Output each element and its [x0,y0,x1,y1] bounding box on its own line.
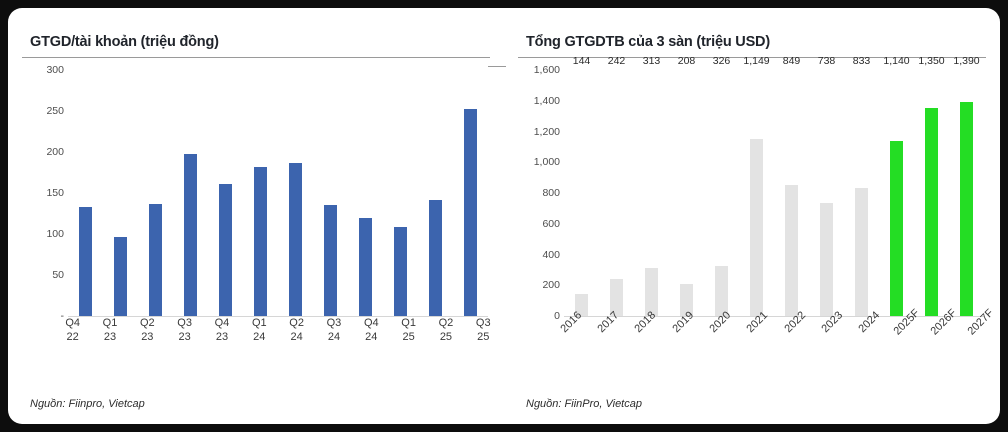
bar-slot [348,70,383,316]
x-axis-tick: Q323 [166,316,203,344]
title-divider-stub [488,66,506,67]
bar [184,154,197,316]
y-axis-tick-label: 1,200 [534,126,560,138]
bar-value-label: 1,390 [953,55,979,67]
title-divider-left [22,57,490,58]
x-axis-labels-left: Q422Q123Q223Q323Q423Q124Q224Q324Q424Q125… [54,316,502,344]
bar-slot: 242 [599,70,634,316]
x-axis-tick: Q422 [54,316,91,344]
x-axis-tick-label: 24 [241,330,278,344]
y-axis-labels-right: 1,6001,4001,2001,0008006004002000 [518,70,564,316]
source-note-right: Nguồn: FiinPro, Vietcap [526,398,642,410]
bar-value-label: 326 [713,55,731,67]
bar-value-label: 208 [678,55,696,67]
bar-value-label: 242 [608,55,626,67]
bar-value-label: 833 [853,55,871,67]
bar: 849 [785,185,798,316]
bar [219,184,232,316]
panel-gtgd-per-account: GTGD/tài khoản (triệu đồng) 300250200150… [8,8,504,424]
bar-slot [313,70,348,316]
y-axis-labels-left: 30025020015010050- [22,70,68,316]
x-axis-tick-label: 22 [54,330,91,344]
x-axis-tick-label: Q1 [241,316,278,330]
plot-area-right: 1,6001,4001,2001,0008006004002000 144242… [518,70,986,316]
bar-value-label: 738 [818,55,836,67]
x-axis-tick-label: Q3 [166,316,203,330]
x-axis-tick: Q325 [465,316,502,344]
bar-slot: 738 [809,70,844,316]
x-axis-tick-label: 23 [91,330,128,344]
x-axis-tick-label: 23 [129,330,166,344]
x-axis-tick: 2019 [662,316,699,356]
x-axis-tick-label: Q1 [91,316,128,330]
x-axis-tick: 2022 [774,316,811,356]
bar [254,167,267,316]
x-axis-tick-label: 23 [203,330,240,344]
x-axis-tick: Q123 [91,316,128,344]
bar-slot: 833 [844,70,879,316]
panel-title-right: Tổng GTGDTB của 3 sàn (triệu USD) [518,34,986,50]
bar-slot: 1,140 [879,70,914,316]
bar-slot [103,70,138,316]
x-axis-tick-label: Q2 [129,316,166,330]
y-axis-tick-label: 50 [52,269,64,281]
bar-slot: 1,149 [739,70,774,316]
bar [114,237,127,316]
y-axis-tick-label: 200 [46,146,64,158]
panel-title-left: GTGD/tài khoản (triệu đồng) [22,34,490,50]
x-axis-tick: Q124 [241,316,278,344]
bar-value-label: 1,140 [883,55,909,67]
y-axis-tick-label: 1,000 [534,156,560,168]
bar [464,109,477,316]
x-axis-tick-label: 25 [427,330,464,344]
y-axis-tick-label: 300 [46,64,64,76]
bar-slot [173,70,208,316]
bar-slot [278,70,313,316]
x-axis-tick: 2025F [886,316,923,356]
plot-area-left: 30025020015010050- [22,70,490,316]
bar-group-right: 1442423132083261,1498497388331,1401,3501… [564,70,984,316]
x-axis-tick: 2016 [550,316,587,356]
bar-slot [453,70,488,316]
bar: 833 [855,188,868,316]
chart-panels: GTGD/tài khoản (triệu đồng) 300250200150… [8,8,1000,424]
bar-value-label: 144 [573,55,591,67]
x-axis-tick: 2027F [961,316,998,356]
bar [359,218,372,316]
y-axis-tick-label: 100 [46,228,64,240]
bar-value-label: 1,149 [743,55,769,67]
x-axis-tick: Q324 [315,316,352,344]
y-axis-tick-label: 150 [46,187,64,199]
bar-slot: 144 [564,70,599,316]
source-note-left: Nguồn: Fiinpro, Vietcap [30,398,145,410]
bar-slot [243,70,278,316]
bar: 1,140 [890,141,903,316]
x-axis-tick: Q223 [129,316,166,344]
x-axis-tick: 2018 [625,316,662,356]
x-axis-tick-label: Q4 [54,316,91,330]
x-axis-tick-label: 25 [390,330,427,344]
x-axis-tick-label: 24 [278,330,315,344]
bar: 738 [820,203,833,316]
bar: 1,350 [925,108,938,316]
x-axis-tick: Q423 [203,316,240,344]
x-axis-tick-label: 24 [353,330,390,344]
bar-value-label: 1,350 [918,55,944,67]
x-axis-tick: 2023 [811,316,848,356]
y-axis-tick-label: 800 [542,187,560,199]
x-axis-tick-label: Q3 [315,316,352,330]
x-axis-tick: 2017 [587,316,624,356]
bar [429,200,442,316]
x-axis-tick-label: Q4 [203,316,240,330]
bar-slot: 849 [774,70,809,316]
x-axis-tick-label: Q1 [390,316,427,330]
bar-slot: 208 [669,70,704,316]
x-axis-labels-right: 2016201720182019202020212022202320242025… [550,316,998,356]
bar-slot [138,70,173,316]
bar-slot [208,70,243,316]
x-axis-tick: 2026F [923,316,960,356]
y-axis-tick-label: 400 [542,249,560,261]
bar-value-label: 849 [783,55,801,67]
x-axis-tick-label: 23 [166,330,203,344]
bar-slot: 1,350 [914,70,949,316]
x-axis-tick-label: 25 [465,330,502,344]
x-axis-tick-label: Q3 [465,316,502,330]
bar-slot: 326 [704,70,739,316]
bar [324,205,337,316]
bar [149,204,162,316]
x-axis-tick: Q225 [427,316,464,344]
x-axis-tick: 2024 [849,316,886,356]
bar-slot: 313 [634,70,669,316]
bar [289,163,302,316]
x-axis-tick-label: Q4 [353,316,390,330]
x-axis-tick: 2020 [699,316,736,356]
bar-slot: 1,390 [949,70,984,316]
y-axis-tick-label: 250 [46,105,64,117]
y-axis-tick-label: 600 [542,218,560,230]
chart-card: GTGD/tài khoản (triệu đồng) 300250200150… [8,8,1000,424]
x-axis-tick: 2021 [737,316,774,356]
bar-slot [68,70,103,316]
x-axis-tick-label: 24 [315,330,352,344]
x-axis-tick: Q125 [390,316,427,344]
x-axis-tick: Q224 [278,316,315,344]
y-axis-tick-label: 200 [542,279,560,291]
bar [79,207,92,316]
bar-group-left [68,70,488,316]
bar: 326 [715,266,728,316]
bar: 313 [645,268,658,316]
panel-total-gtgdtb: Tổng GTGDTB của 3 sàn (triệu USD) 1,6001… [504,8,1000,424]
x-axis-tick: Q424 [353,316,390,344]
bar-slot [418,70,453,316]
bar-slot [383,70,418,316]
bar: 1,390 [960,102,973,316]
y-axis-tick-label: 1,600 [534,64,560,76]
x-axis-tick-label: Q2 [427,316,464,330]
bar: 1,149 [750,139,763,316]
bar [394,227,407,316]
bar-value-label: 313 [643,55,661,67]
y-axis-tick-label: 1,400 [534,95,560,107]
x-axis-tick-label: Q2 [278,316,315,330]
